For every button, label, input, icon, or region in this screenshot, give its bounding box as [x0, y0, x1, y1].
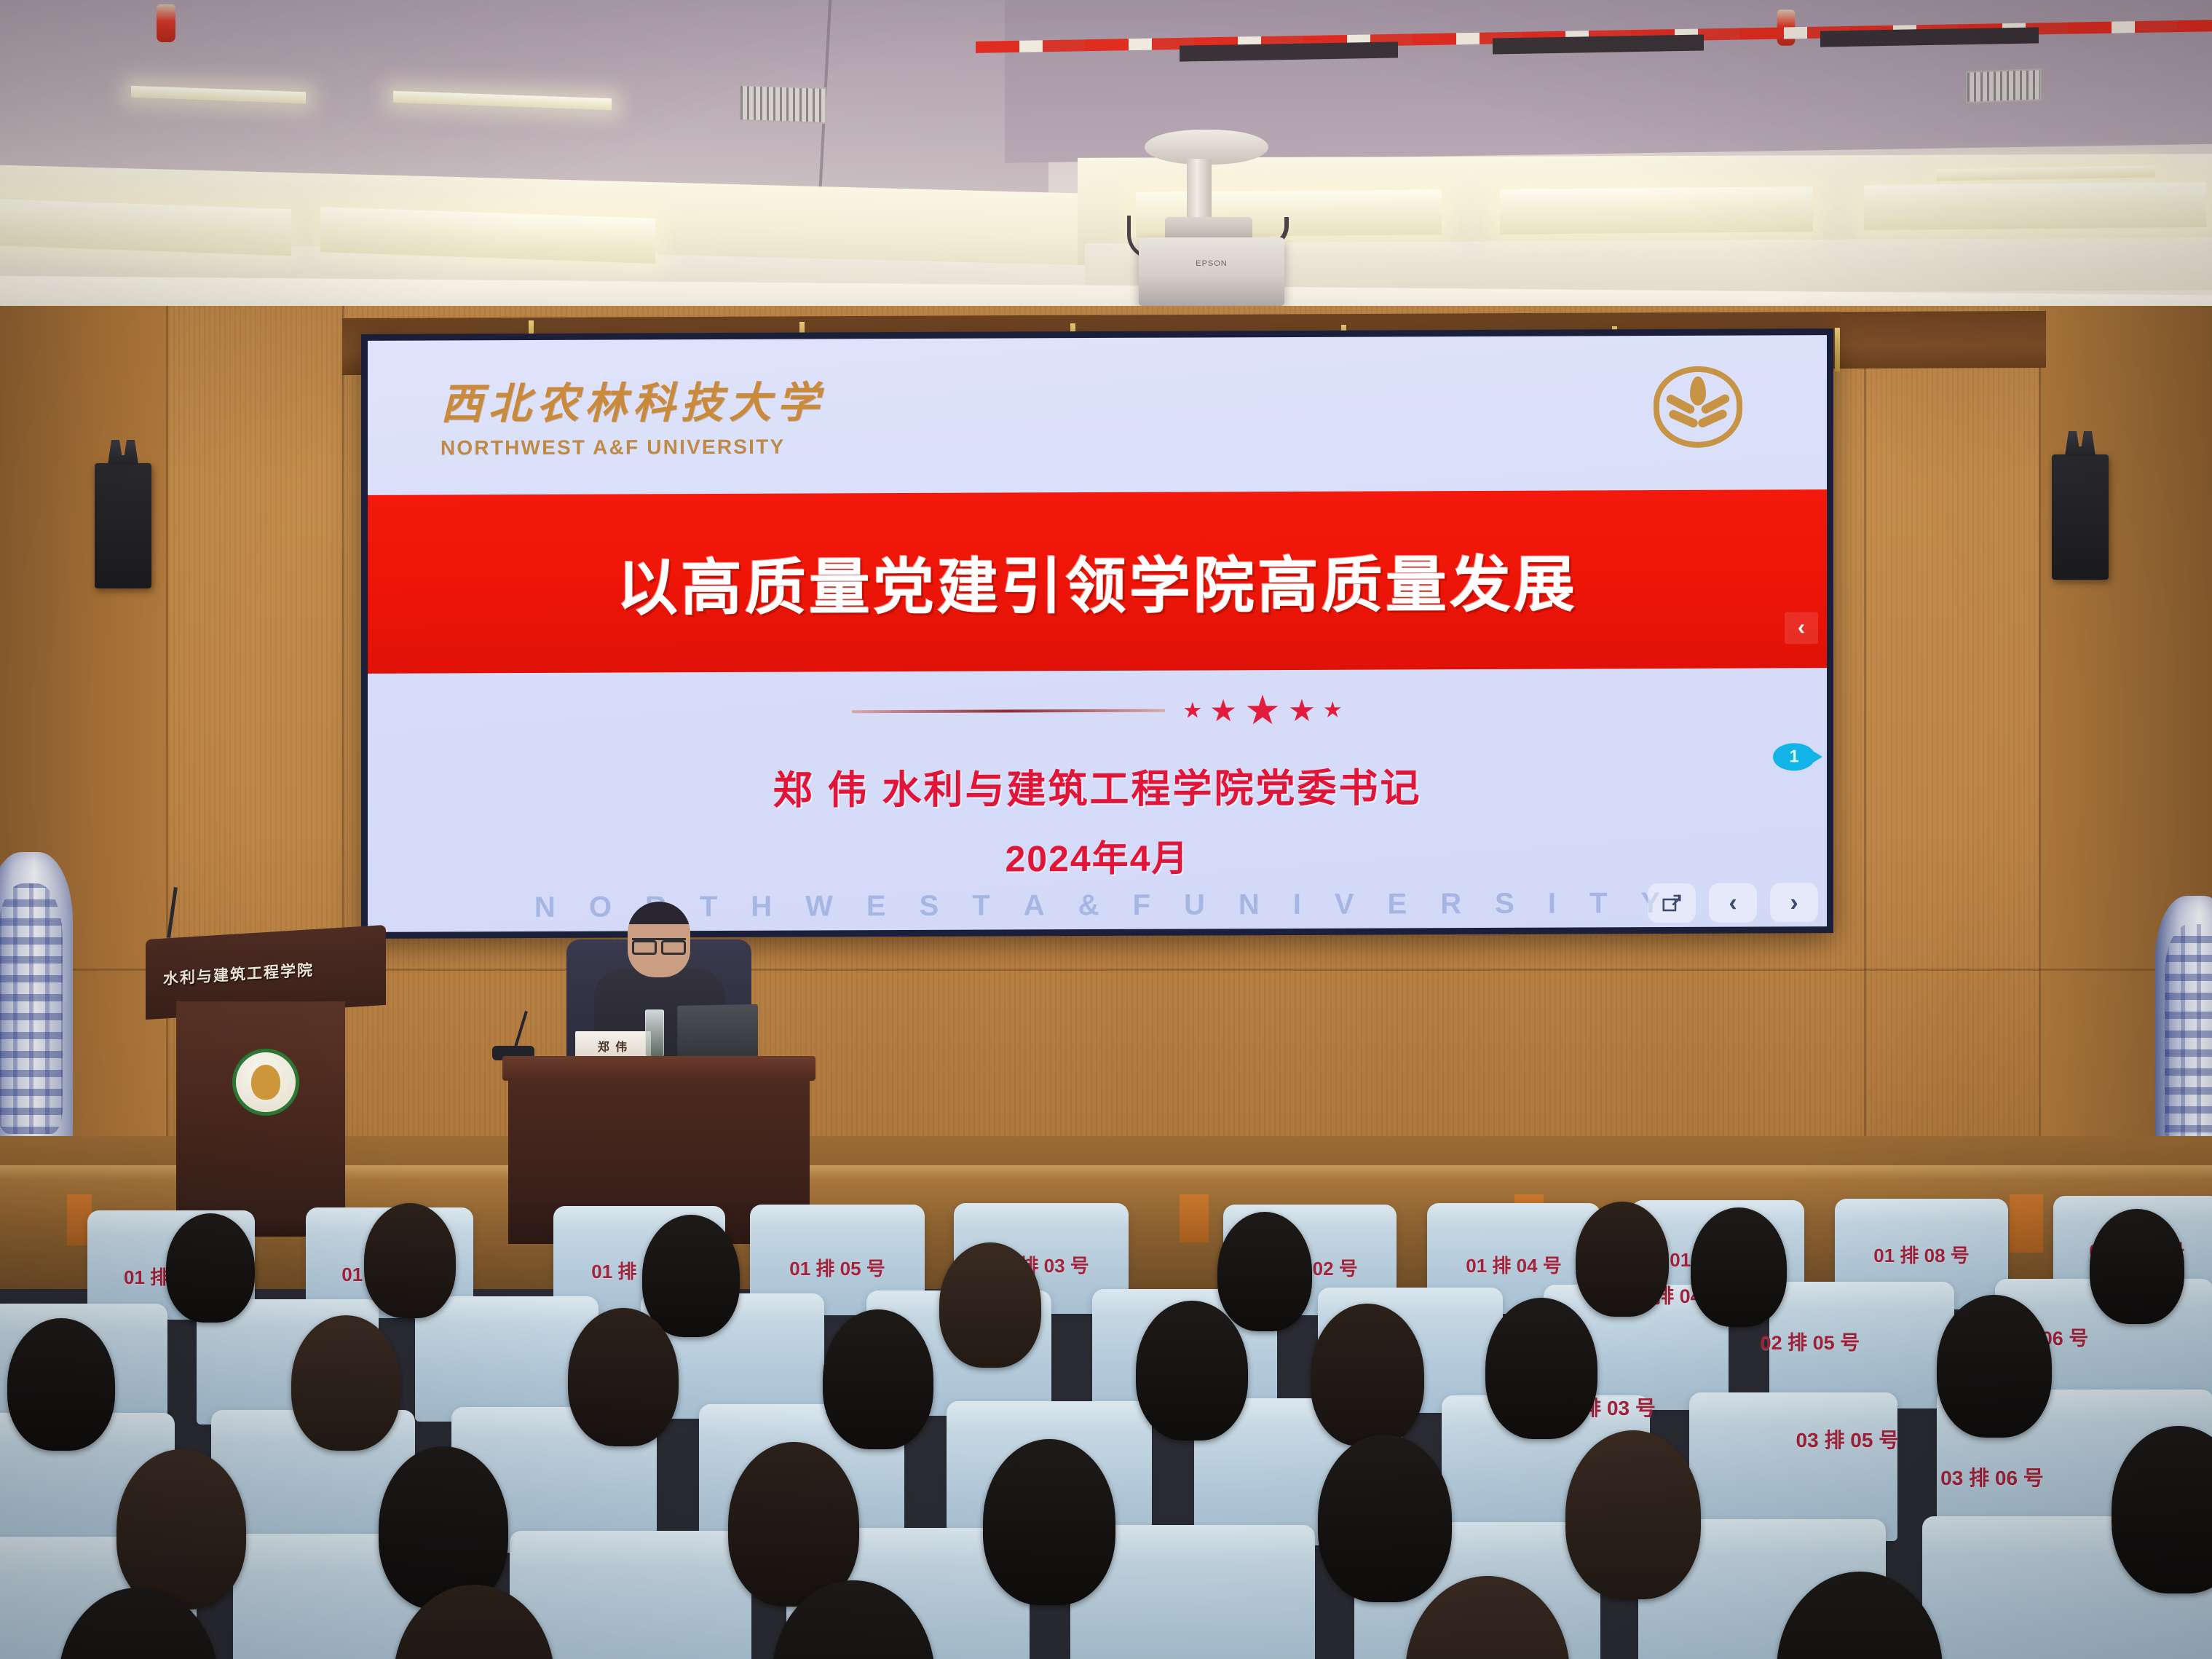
slide-divider: ★ ★ ★ ★ ★	[368, 693, 1827, 728]
table-top	[502, 1056, 815, 1081]
ceiling-light-panel	[1500, 186, 1813, 235]
ceiling	[0, 0, 2212, 342]
audience-head	[379, 1446, 508, 1609]
seat-row2[interactable]: 02 排 05 号	[1769, 1282, 1954, 1408]
watermark-letter: E	[866, 890, 920, 923]
seat-label: 01 排 04 号	[1466, 1251, 1562, 1278]
lectern: 水利与建筑工程学院	[146, 932, 386, 1238]
presenter-line: 郑 伟 水利与建筑工程学院党委书记	[368, 754, 1827, 817]
university-logo: 西北农林科技大学 NORTHWEST A&F UNIVERSITY	[441, 368, 825, 460]
presenter-glasses	[632, 938, 686, 948]
university-name-cn: 西北农林科技大学	[441, 368, 825, 430]
university-name-en: NORTHWEST A&F UNIVERSITY	[441, 435, 825, 460]
university-emblem-icon	[1654, 366, 1742, 448]
audience-head	[1565, 1430, 1701, 1599]
star-icon: ★	[1182, 698, 1202, 723]
watermark-letter: U	[1184, 888, 1239, 921]
star-icon: ★	[1209, 693, 1237, 728]
lecture-hall-scene: EPSON 西北农林科技大学 NORTHWEST A&F UNIVERSITY	[0, 0, 2212, 1659]
audience-seating: 01 排 11 号 01 排 09 号 01 排 07 号 01 排 05 号 …	[0, 1194, 2212, 1659]
wall-seam	[2039, 318, 2041, 1170]
audience-head	[823, 1309, 933, 1449]
share-icon[interactable]	[1648, 883, 1696, 923]
watermark-letter: V	[1335, 888, 1388, 921]
aisle-marker	[1180, 1194, 1209, 1242]
aisle-marker	[2010, 1194, 2043, 1253]
seat-label: 01 排 05 号	[789, 1254, 885, 1281]
projector-body: EPSON	[1139, 237, 1284, 306]
audience-head	[983, 1439, 1115, 1605]
watermark-letter: T	[1589, 887, 1640, 920]
table-microphone	[492, 1009, 530, 1057]
watermark-letter: F	[1133, 889, 1184, 922]
audience-head	[568, 1308, 679, 1446]
watermark-letter: N	[1239, 888, 1293, 921]
laptop	[677, 1004, 758, 1058]
audience-head	[7, 1318, 115, 1451]
seat-label: 01 排 08 号	[1873, 1241, 1970, 1268]
gold-trim	[1835, 328, 1840, 371]
watermark-letter: I	[1548, 887, 1589, 920]
star-icon: ★	[1323, 697, 1343, 722]
wall-speaker-left	[95, 463, 151, 588]
star-decoration: ★ ★ ★ ★ ★	[1182, 686, 1342, 735]
watermark-letter: S	[920, 890, 973, 923]
collapse-left-icon[interactable]: ‹	[1785, 612, 1818, 644]
watermark-letter: T	[972, 889, 1023, 922]
prev-slide-button[interactable]: ‹	[1709, 883, 1757, 923]
slide-title-banner: 以高质量党建引领学院高质量发展 ‹	[368, 489, 1827, 674]
audience-head	[2090, 1209, 2184, 1324]
presentation-slide[interactable]: 西北农林科技大学 NORTHWEST A&F UNIVERSITY 以高质量党建…	[368, 335, 1827, 932]
projector-brand-label: EPSON	[1139, 259, 1284, 268]
audience-head	[939, 1242, 1041, 1368]
page-number-badge: 1	[1773, 743, 1815, 771]
seat-label: 02 排 05 号	[1761, 1327, 1860, 1355]
wall-seam	[1864, 315, 1866, 1167]
air-vent	[1966, 68, 2042, 103]
watermark-letter: H	[751, 891, 805, 923]
star-icon: ★	[1288, 692, 1316, 728]
divider-line	[852, 709, 1165, 714]
slide-title: 以高质量党建引领学院高质量发展	[617, 535, 1578, 627]
sprinkler-head	[157, 4, 175, 42]
watermark-letter: E	[1388, 888, 1441, 921]
watermark-letter: S	[1495, 888, 1548, 921]
next-slide-button[interactable]: ›	[1770, 883, 1818, 922]
seat-label: 03 排 06 号	[1940, 1462, 2044, 1491]
audience-head	[1318, 1435, 1452, 1602]
audience-head	[1691, 1207, 1787, 1327]
watermark-letter: A	[1024, 889, 1078, 922]
audience-head	[116, 1449, 246, 1609]
projector-pole	[1187, 159, 1212, 226]
projection-screen-frame: 西北农林科技大学 NORTHWEST A&F UNIVERSITY 以高质量党建…	[361, 328, 1833, 939]
audience-head	[642, 1215, 740, 1337]
porcelain-vase-left	[0, 852, 73, 1165]
slide-date: 2024年4月	[368, 827, 1827, 885]
water-glass	[645, 1009, 664, 1057]
watermark-letter: I	[1293, 888, 1335, 921]
audience-head	[291, 1315, 400, 1451]
star-icon: ★	[1244, 686, 1281, 734]
audience-head	[364, 1203, 456, 1318]
watermark-letter: R	[1440, 888, 1495, 921]
watermark-letter: &	[1078, 889, 1133, 922]
audience-head	[1485, 1298, 1597, 1439]
lectern-emblem-icon	[232, 1049, 299, 1116]
audience-head	[1937, 1295, 2052, 1438]
air-vent	[739, 84, 826, 124]
seat-label: 03 排 05 号	[1796, 1424, 1900, 1454]
audience-head	[1217, 1212, 1312, 1331]
ceiling-projector: EPSON	[1114, 130, 1303, 312]
emblem-leaf	[1690, 377, 1706, 406]
audience-head	[166, 1213, 255, 1323]
slide-nav-controls: ‹ ›	[1648, 883, 1818, 923]
audience-head	[1576, 1202, 1669, 1317]
wall-speaker-right	[2052, 454, 2109, 580]
audience-head	[1136, 1301, 1248, 1441]
watermark-letter: W	[805, 890, 866, 923]
ceiling-light-panel	[1864, 182, 2206, 230]
audience-head	[1311, 1304, 1424, 1446]
